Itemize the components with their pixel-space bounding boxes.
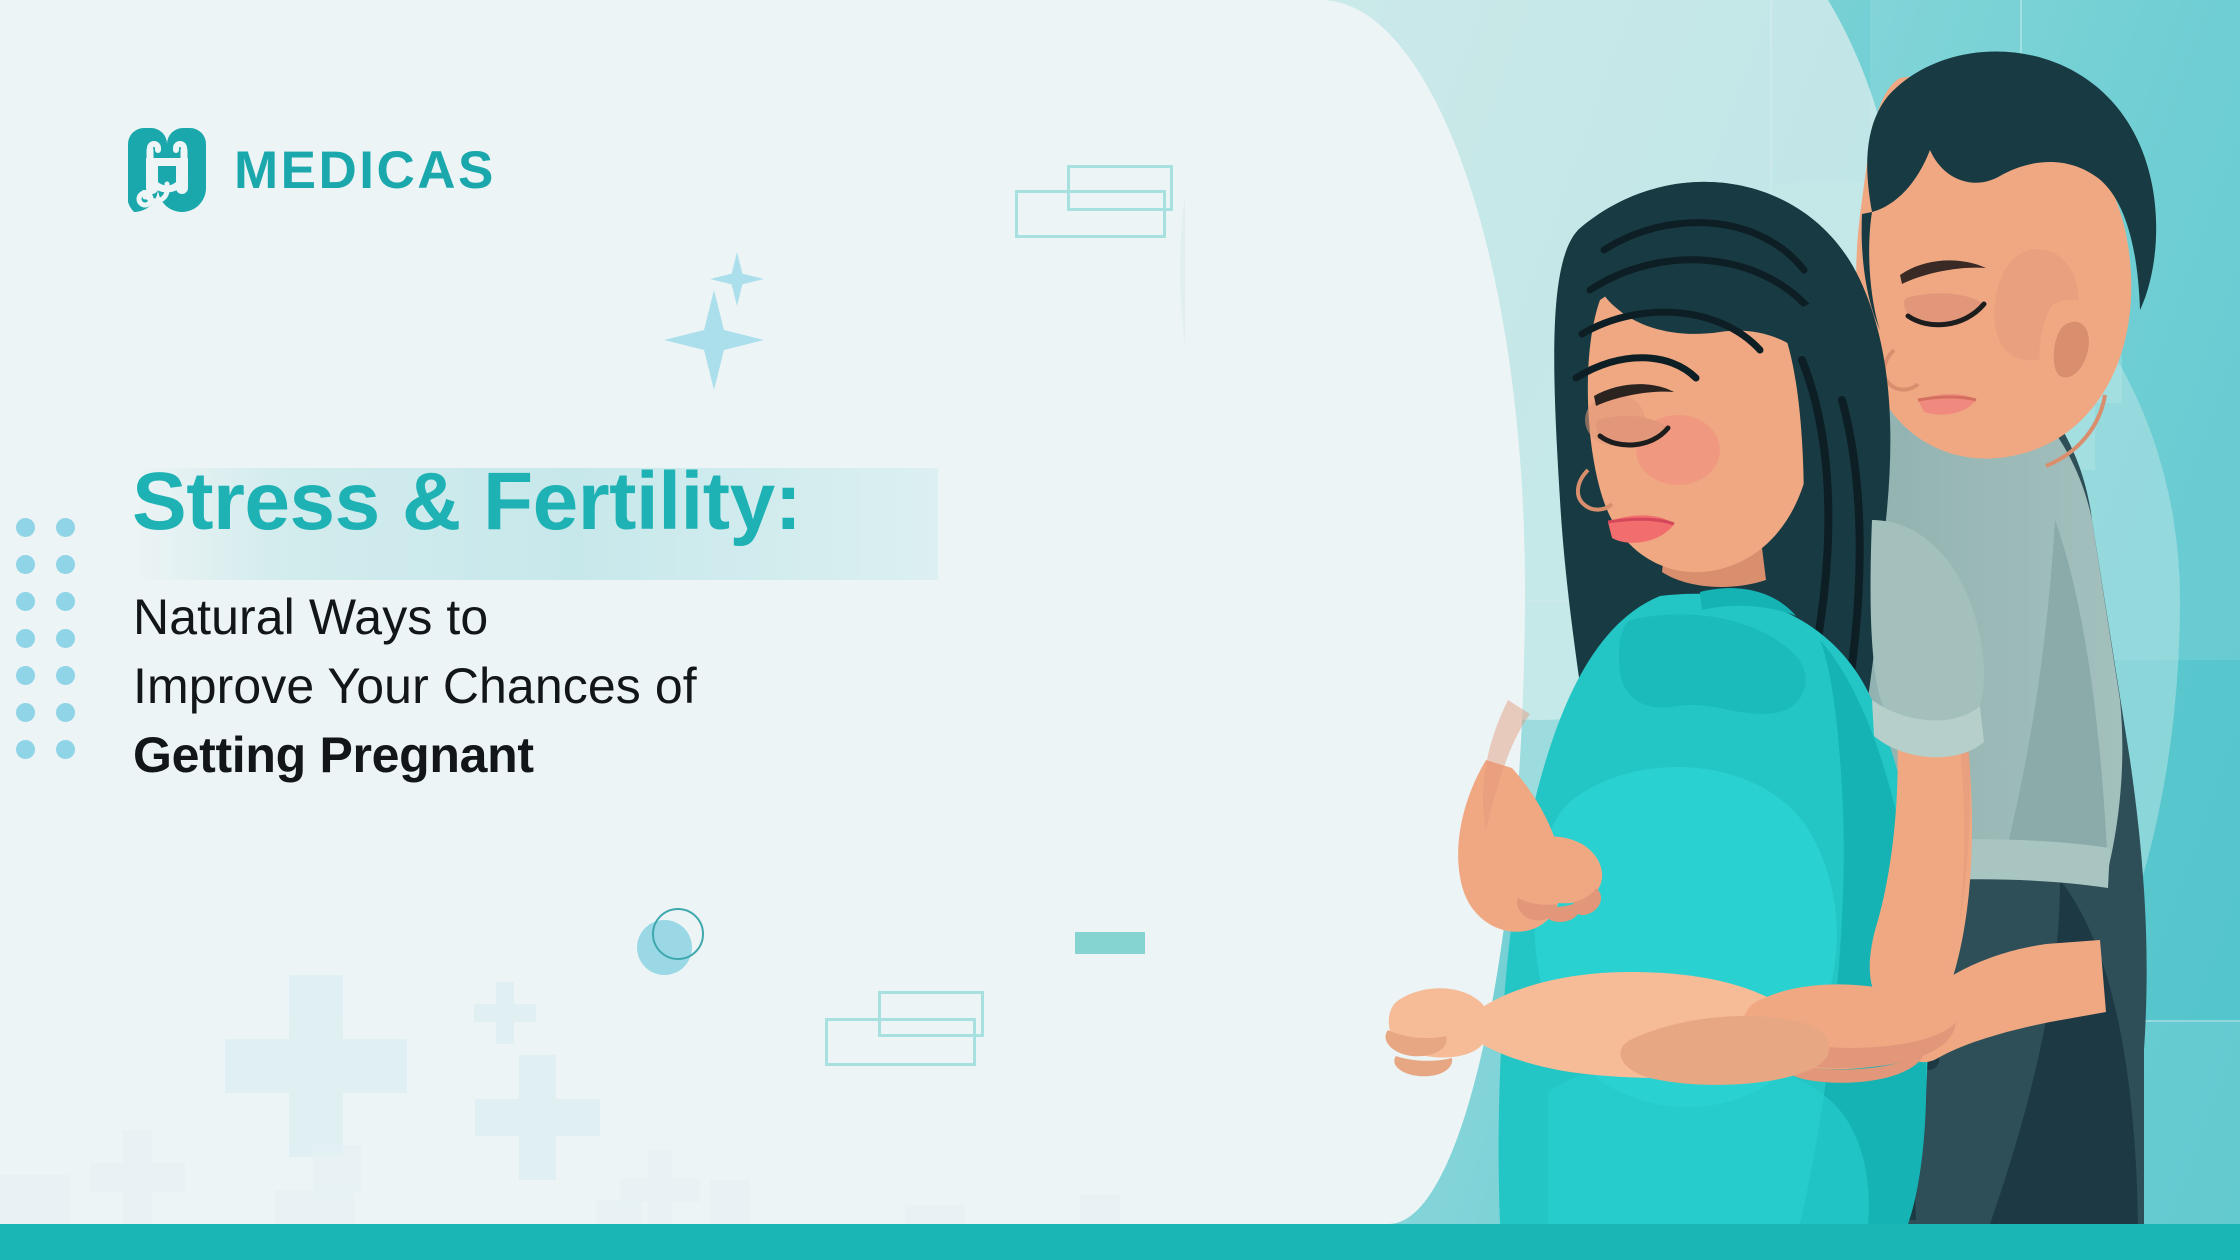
pattern-square-1 (313, 1145, 361, 1193)
dot (56, 555, 75, 574)
rect-outline-top-large (1015, 190, 1166, 238)
stethoscope-m-mark-icon (128, 128, 206, 212)
page-subtitle: Natural Ways to Improve Your Chances of … (133, 583, 697, 790)
brand-name: MEDICAS (234, 144, 496, 197)
dot (16, 518, 35, 537)
pattern-square-4 (710, 1180, 750, 1225)
medical-cross-icon-3 (475, 1055, 600, 1180)
dot (56, 629, 75, 648)
dot (56, 518, 75, 537)
medical-cross-icon-4 (90, 1130, 185, 1225)
dot (16, 666, 35, 685)
rect-outline-bottom-large (825, 1018, 976, 1066)
page-title: Stress & Fertility: (132, 455, 801, 549)
dot (56, 703, 75, 722)
dot (56, 592, 75, 611)
medical-cross-icon-1 (225, 975, 407, 1157)
dash-decoration (1075, 932, 1145, 954)
brand-logo[interactable]: MEDICAS (128, 128, 496, 212)
dot-grid-decoration (16, 518, 96, 777)
pattern-square-2 (275, 1190, 355, 1225)
fertility-banner: MEDICAS Stress & Fertility: Natural Ways… (0, 0, 2240, 1260)
pattern-square-7 (905, 1205, 965, 1225)
footer-bar (0, 1224, 2240, 1260)
pattern-square-3 (596, 1200, 642, 1225)
medical-cross-icon-2 (474, 982, 536, 1044)
subtitle-line-2: Improve Your Chances of (133, 652, 697, 721)
pattern-square-6 (1080, 1195, 1120, 1225)
pregnant-couple-illustration (1200, 0, 2240, 1224)
pattern-square-5 (0, 1175, 70, 1225)
dot (16, 703, 35, 722)
subtitle-line-3: Getting Pregnant (133, 721, 697, 790)
dot (16, 592, 35, 611)
circle-ring-decoration (652, 908, 704, 960)
subtitle-line-1: Natural Ways to (133, 583, 697, 652)
dot (16, 629, 35, 648)
dot (56, 740, 75, 759)
dot (16, 555, 35, 574)
dot (16, 740, 35, 759)
dot (56, 666, 75, 685)
